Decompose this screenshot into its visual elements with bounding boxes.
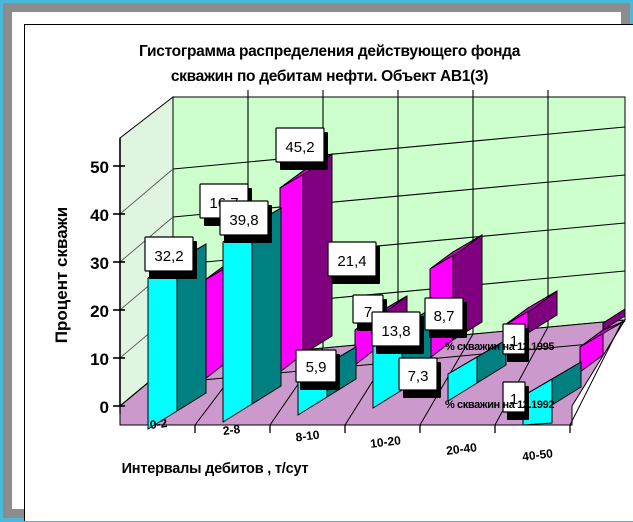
legend-label-1995: % скважин на 12.1995 (445, 341, 554, 353)
y-tick-2: 20 (90, 302, 109, 321)
y-tick-3: 30 (90, 254, 109, 273)
y-axis-tick-labels: 0 10 20 30 40 50 (90, 158, 109, 417)
data-label-1995-10-20: 21,4 (328, 242, 380, 284)
data-label-1992-0-2: 32,2 (145, 237, 197, 279)
chart-plot-wrapper: Гистограмма распределения действующего ф… (25, 25, 633, 522)
beveled-border: Гистограмма распределения действующего ф… (3, 3, 630, 518)
svg-text:45,2: 45,2 (285, 139, 314, 156)
svg-text:7: 7 (364, 304, 372, 321)
x-tick-3: 10-20 (369, 433, 401, 451)
svg-text:7,3: 7,3 (408, 368, 429, 385)
data-label-1992-2-8: 39,8 (220, 201, 272, 243)
y-tick-5: 50 (90, 158, 109, 177)
svg-text:21,4: 21,4 (337, 253, 366, 270)
data-label-1992-10-20: 13,8 (372, 312, 424, 354)
bar-1995-2-8 (280, 154, 332, 372)
x-tick-5: 40-50 (521, 446, 553, 464)
svg-text:32,2: 32,2 (154, 248, 183, 265)
chart-canvas: Гистограмма распределения действующего ф… (24, 24, 633, 521)
y-tick-4: 40 (90, 206, 109, 225)
data-label-1995-2-8: 45,2 (276, 128, 328, 170)
data-label-1992-8-10: 5,9 (296, 350, 340, 390)
svg-text:13,8: 13,8 (381, 323, 410, 340)
x-tick-0: 0-2 (149, 416, 168, 432)
x-tick-1: 2-8 (222, 422, 241, 438)
svg-text:5,9: 5,9 (306, 359, 327, 376)
svg-text:8,7: 8,7 (434, 308, 455, 325)
legend-label-1992: % скважин на 12.1992 (445, 399, 554, 411)
data-label-1995-20-40: 8,7 (425, 298, 467, 338)
y-tick-1: 10 (90, 350, 109, 369)
x-tick-4: 20-40 (445, 440, 477, 458)
image-frame: Гистограмма распределения действующего ф… (0, 0, 633, 521)
y-tick-0: 0 (100, 398, 109, 417)
chart-svg: 0 10 20 30 40 50 (25, 25, 633, 522)
svg-text:39,8: 39,8 (229, 212, 258, 229)
x-tick-2: 8-10 (295, 428, 321, 445)
data-label-1992-20-40: 7,3 (399, 358, 441, 398)
